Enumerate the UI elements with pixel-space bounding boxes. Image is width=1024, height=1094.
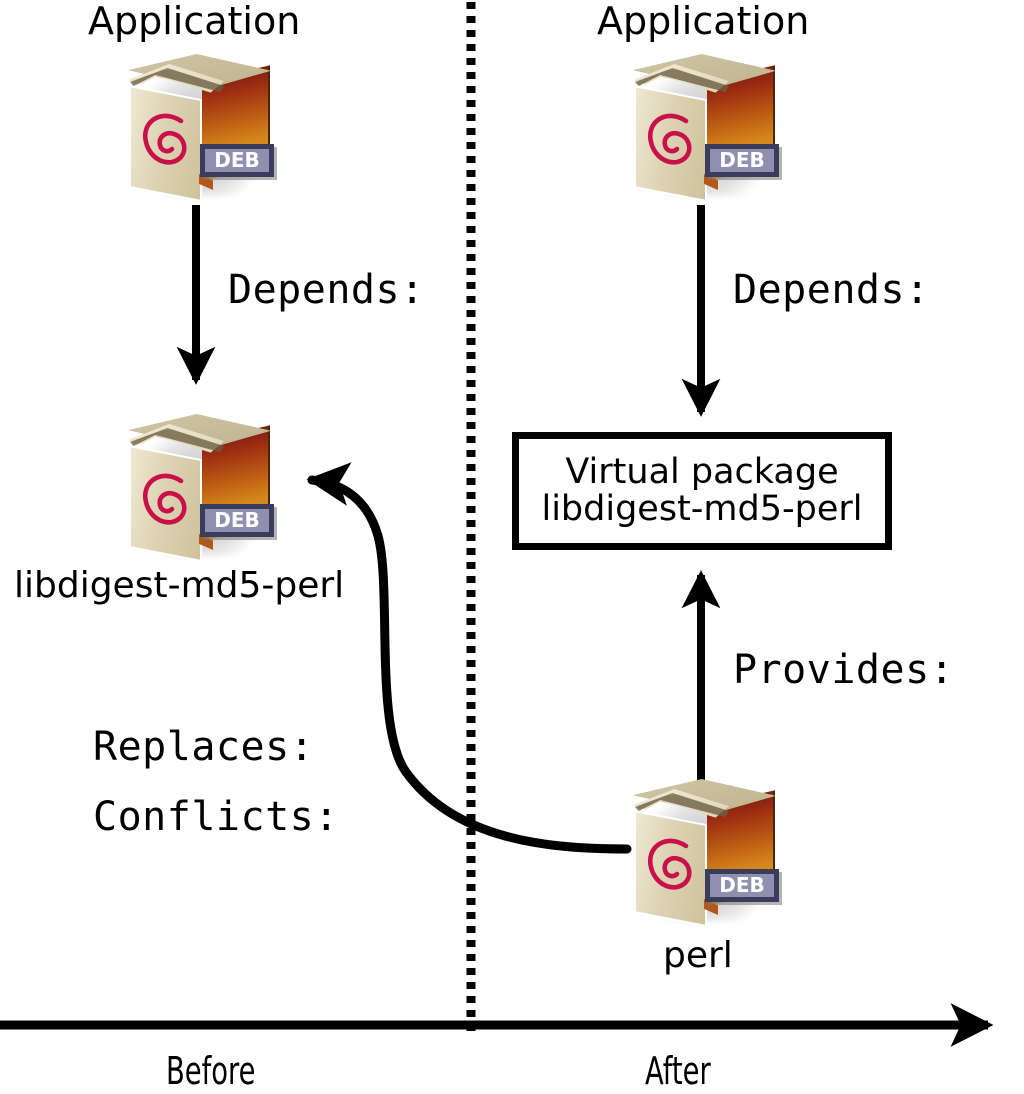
edge-label-depends-after: Depends: (733, 270, 930, 310)
deb-badge: DEB (705, 144, 779, 177)
package-icon-perl[interactable]: DEB (627, 777, 787, 927)
edge-label-depends-before: Depends: (228, 270, 425, 310)
package-icon-application-before[interactable]: DEB (122, 52, 282, 202)
deb-badge: DEB (705, 869, 779, 902)
edge-label-conflicts: Conflicts: (93, 797, 339, 837)
deb-badge: DEB (200, 144, 274, 177)
node-label-perl: perl (663, 938, 733, 974)
virtual-package-line1: Virtual package (565, 454, 838, 491)
column-header-after-application: Application (597, 2, 809, 40)
edge-label-provides: Provides: (733, 650, 954, 690)
timeline-label-before: Before (166, 1052, 255, 1090)
deb-badge: DEB (200, 504, 274, 537)
diagram-canvas: Application Application DEB DEB Depends:… (0, 0, 1024, 1094)
debian-swirl-icon (139, 110, 197, 172)
virtual-package-line2: libdigest-md5-perl (541, 491, 862, 528)
debian-swirl-icon (644, 835, 702, 897)
debian-swirl-icon (644, 110, 702, 172)
node-label-libdigest-md5-perl: libdigest-md5-perl (14, 568, 344, 604)
package-icon-libdigest-md5-perl[interactable]: DEB (122, 412, 282, 562)
column-header-before-application: Application (88, 2, 300, 40)
debian-swirl-icon (139, 470, 197, 532)
package-icon-application-after[interactable]: DEB (627, 52, 787, 202)
edge-label-replaces: Replaces: (93, 727, 314, 767)
timeline-label-after: After (645, 1052, 711, 1090)
virtual-package-box: Virtual package libdigest-md5-perl (512, 432, 892, 550)
